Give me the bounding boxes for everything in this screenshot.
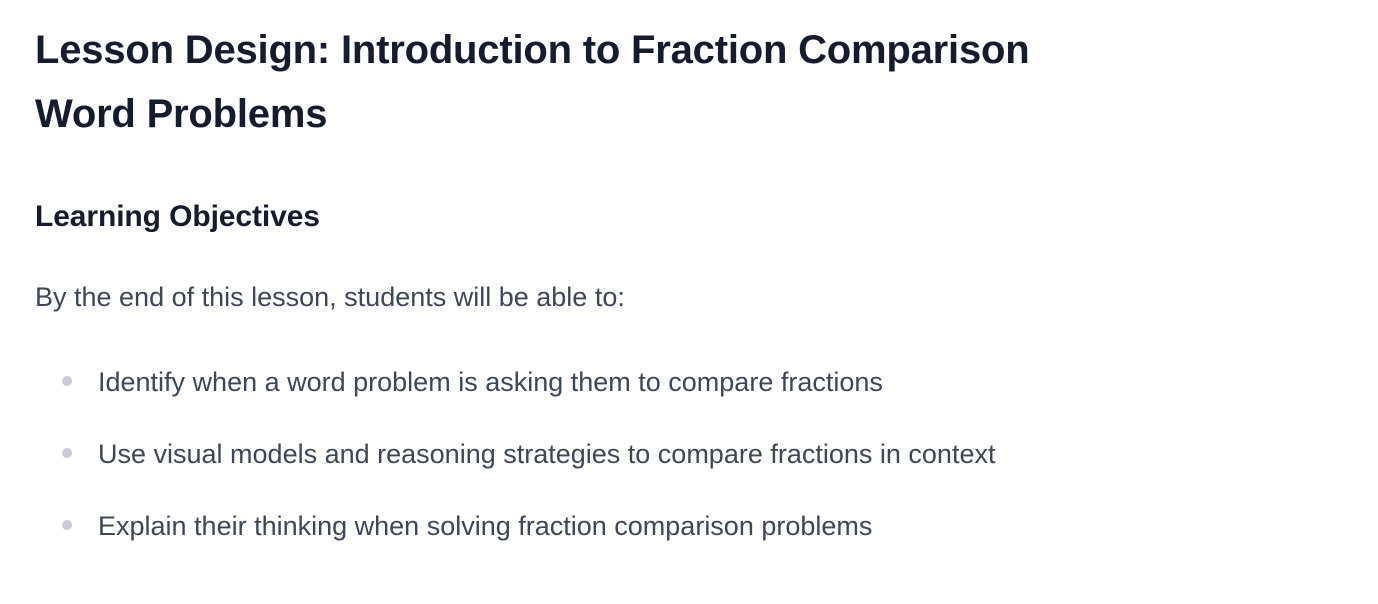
- page-title: Lesson Design: Introduction to Fraction …: [35, 0, 1070, 146]
- list-item-label: Identify when a word problem is asking t…: [98, 367, 883, 397]
- bullet-dot-icon: [62, 376, 72, 386]
- bullet-dot-icon: [62, 520, 72, 530]
- section-heading-learning-objectives: Learning Objectives: [35, 146, 1338, 236]
- list-item: Explain their thinking when solving frac…: [35, 510, 1338, 582]
- list-item: Use visual models and reasoning strategi…: [35, 438, 1338, 510]
- list-item: Identify when a word problem is asking t…: [35, 366, 1338, 438]
- learning-objectives-list: Identify when a word problem is asking t…: [35, 314, 1338, 582]
- list-item-label: Explain their thinking when solving frac…: [98, 511, 872, 541]
- learning-objectives-intro-text: By the end of this lesson, students will…: [35, 236, 1338, 314]
- list-item-label: Use visual models and reasoning strategi…: [98, 439, 995, 469]
- bullet-dot-icon: [62, 448, 72, 458]
- lesson-design-document: Lesson Design: Introduction to Fraction …: [0, 0, 1378, 604]
